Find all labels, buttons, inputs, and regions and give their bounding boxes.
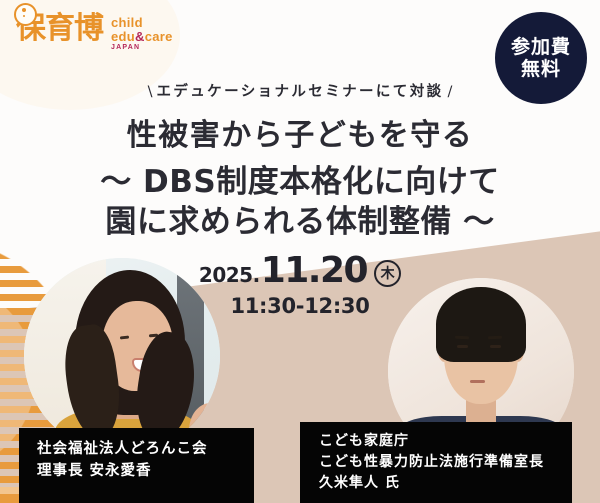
brand-logo-mark-text: 保育博 (16, 14, 103, 44)
brand-logo-edu: edu (111, 29, 135, 44)
kicker-text: \エデュケーショナルセミナーにて対談/ (0, 80, 600, 101)
page-title: 性被害から子どもを守る (0, 110, 600, 154)
speaker-photo-yasunaga (24, 258, 220, 454)
brand-logo-line3: JAPAN (111, 44, 173, 51)
subtitle-line-1: 〜 DBS制度本格化に向けて (0, 156, 600, 201)
brand-logo[interactable]: 保育博 child edu&care JAPAN (16, 14, 173, 52)
speaker-left-title-name: 理事長 安永愛香 (37, 460, 254, 482)
brand-logo-ampersand: & (135, 29, 145, 44)
brand-logo-wordmark: child edu&care JAPAN (111, 14, 173, 52)
speaker-right-name: 久米隼人 氏 (319, 473, 572, 494)
photo-right-brow-left (455, 335, 469, 339)
child-figure-icon (14, 3, 37, 26)
event-day: 11.20 (261, 250, 367, 291)
photo-right-eye-left (457, 345, 468, 348)
photo-right-mouth (470, 380, 485, 383)
badge-line2: 無料 (521, 58, 561, 80)
brand-logo-care: care (145, 29, 173, 44)
photo-right-brow-right (488, 335, 502, 339)
speaker-right-affiliation: こども家庭庁 (319, 431, 572, 452)
seminar-poster: 保育博 child edu&care JAPAN 参加費 無料 \エデュケーショ… (0, 0, 600, 503)
kicker-slash-left: \ (144, 84, 157, 100)
brand-logo-line1: child (111, 16, 173, 30)
photo-right-eye-right (490, 345, 501, 348)
photo-right-hair (436, 287, 525, 361)
speaker-right-title: こども性暴力防止法施行準備室長 (319, 452, 572, 473)
kicker-label: エデュケーショナルセミナーにて対談 (156, 84, 443, 100)
brand-logo-line2: edu&care (111, 30, 173, 44)
speaker-caption-right: こども家庭庁 こども性暴力防止法施行準備室長 久米隼人 氏 (300, 422, 572, 503)
kicker-slash-right: / (444, 84, 457, 100)
subtitle-line-2: 園に求められる体制整備 〜 (0, 196, 600, 241)
speaker-caption-left: 社会福祉法人どろんこ会 理事長 安永愛香 (19, 428, 254, 503)
speaker-left-affiliation: 社会福祉法人どろんこ会 (37, 438, 254, 460)
badge-line1: 参加費 (511, 36, 571, 58)
